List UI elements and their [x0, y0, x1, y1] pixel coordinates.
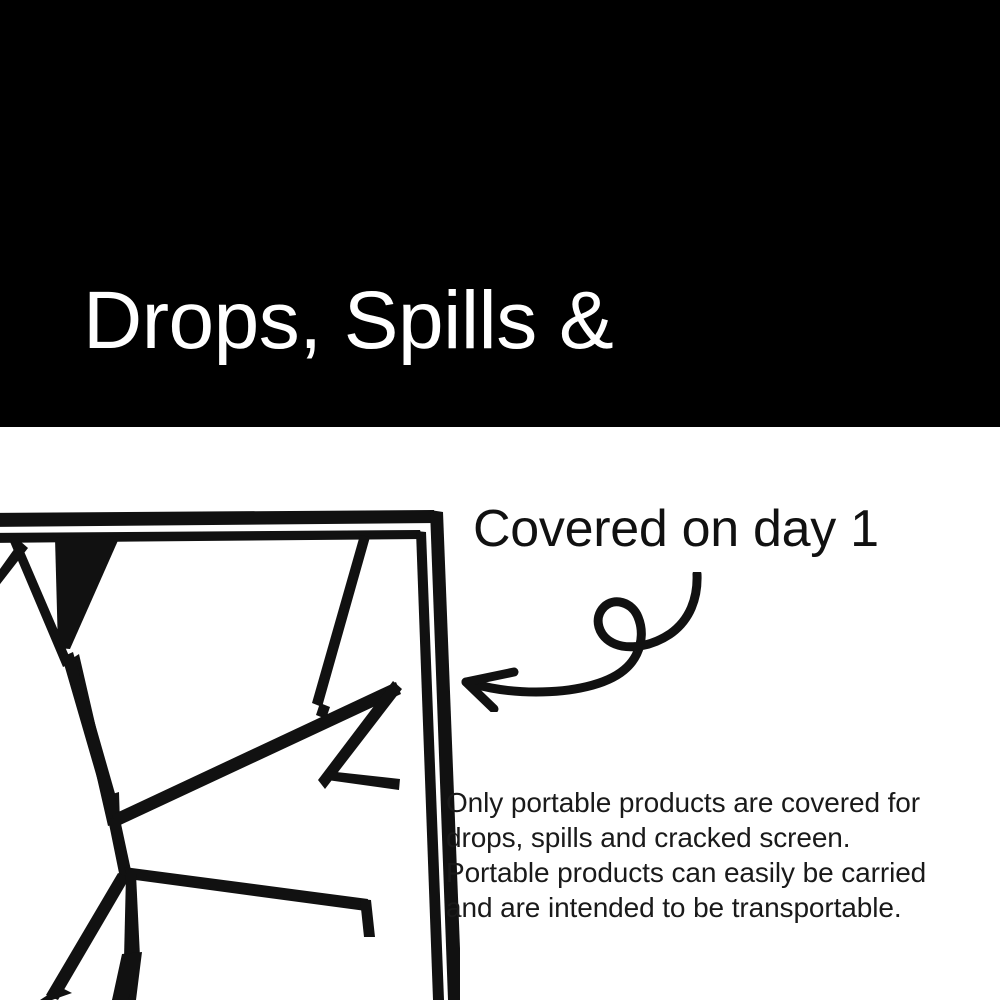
infographic-page: Drops, Spills & Cracked screens for Port… [0, 0, 1000, 1000]
cracked-screen-illustration [0, 467, 460, 1000]
content-section: Covered on day 1 Only portable products … [0, 427, 1000, 1000]
body-line-4: and are intended to be transportable. [446, 890, 974, 925]
body-line-1: Only portable products are covered for [446, 785, 974, 820]
body-line-2: drops, spills and cracked screen. [446, 820, 974, 855]
curly-arrow-icon [452, 572, 722, 712]
page-title-line-1: Drops, Spills & [83, 269, 963, 372]
body-paragraph: Only portable products are covered for d… [446, 785, 974, 925]
callout-heading: Covered on day 1 [473, 500, 879, 558]
body-line-3: Portable products can easily be carried [446, 855, 974, 890]
header-band: Drops, Spills & Cracked screens for Port… [0, 0, 1000, 427]
